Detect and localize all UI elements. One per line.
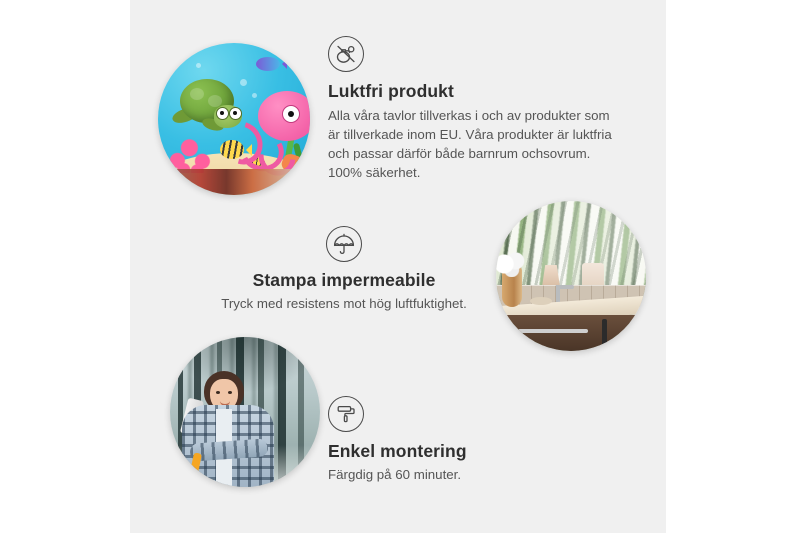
fish-icon (256, 57, 280, 71)
bubble-icon (240, 79, 247, 86)
coral-icon (166, 131, 218, 173)
feature-assembly: Enkel montering Färgdig på 60 minuter. (328, 396, 588, 485)
feature-title: Stampa impermeabile (214, 270, 474, 291)
feature-waterproof: Stampa impermeabile Tryck med resistens … (214, 226, 474, 314)
umbrella-icon (326, 226, 362, 262)
bubble-icon (252, 93, 257, 98)
underwater-illustration (158, 43, 310, 195)
no-spray-bottle-icon (328, 36, 364, 72)
feature-odorless: Luktfri produkt Alla våra tavlor tillver… (328, 36, 624, 183)
woman-eye (228, 391, 232, 394)
feature-title: Luktfri produkt (328, 81, 624, 102)
photo-bathroom[interactable] (496, 201, 646, 351)
woman-eye (216, 391, 220, 394)
canopy-shadow (170, 337, 320, 393)
vanity-cabinet (506, 315, 646, 351)
feature-description: Alla våra tavlor tillverkas i och av pro… (328, 107, 624, 183)
screenshot-root: Luktfri produkt Alla våra tavlor tillver… (0, 0, 800, 533)
paint-roller-icon (328, 396, 364, 432)
bubble-icon (196, 63, 201, 68)
octopus-eye (282, 105, 300, 123)
turtle-eye (216, 107, 229, 120)
bathroom-illustration (496, 201, 646, 351)
feature-description: Färgdig på 60 minuter. (328, 466, 588, 485)
feature-title: Enkel montering (328, 441, 588, 462)
turtle-eye (229, 107, 242, 120)
flowers-icon (496, 251, 528, 277)
forest-illustration (170, 337, 320, 487)
soap-dish-icon (530, 297, 552, 305)
feature-description: Tryck med resistens mot hög luftfuktighe… (214, 295, 474, 314)
photo-forest[interactable] (170, 337, 320, 487)
photo-underwater[interactable] (158, 43, 310, 195)
bottom-photo-strip (158, 169, 310, 195)
